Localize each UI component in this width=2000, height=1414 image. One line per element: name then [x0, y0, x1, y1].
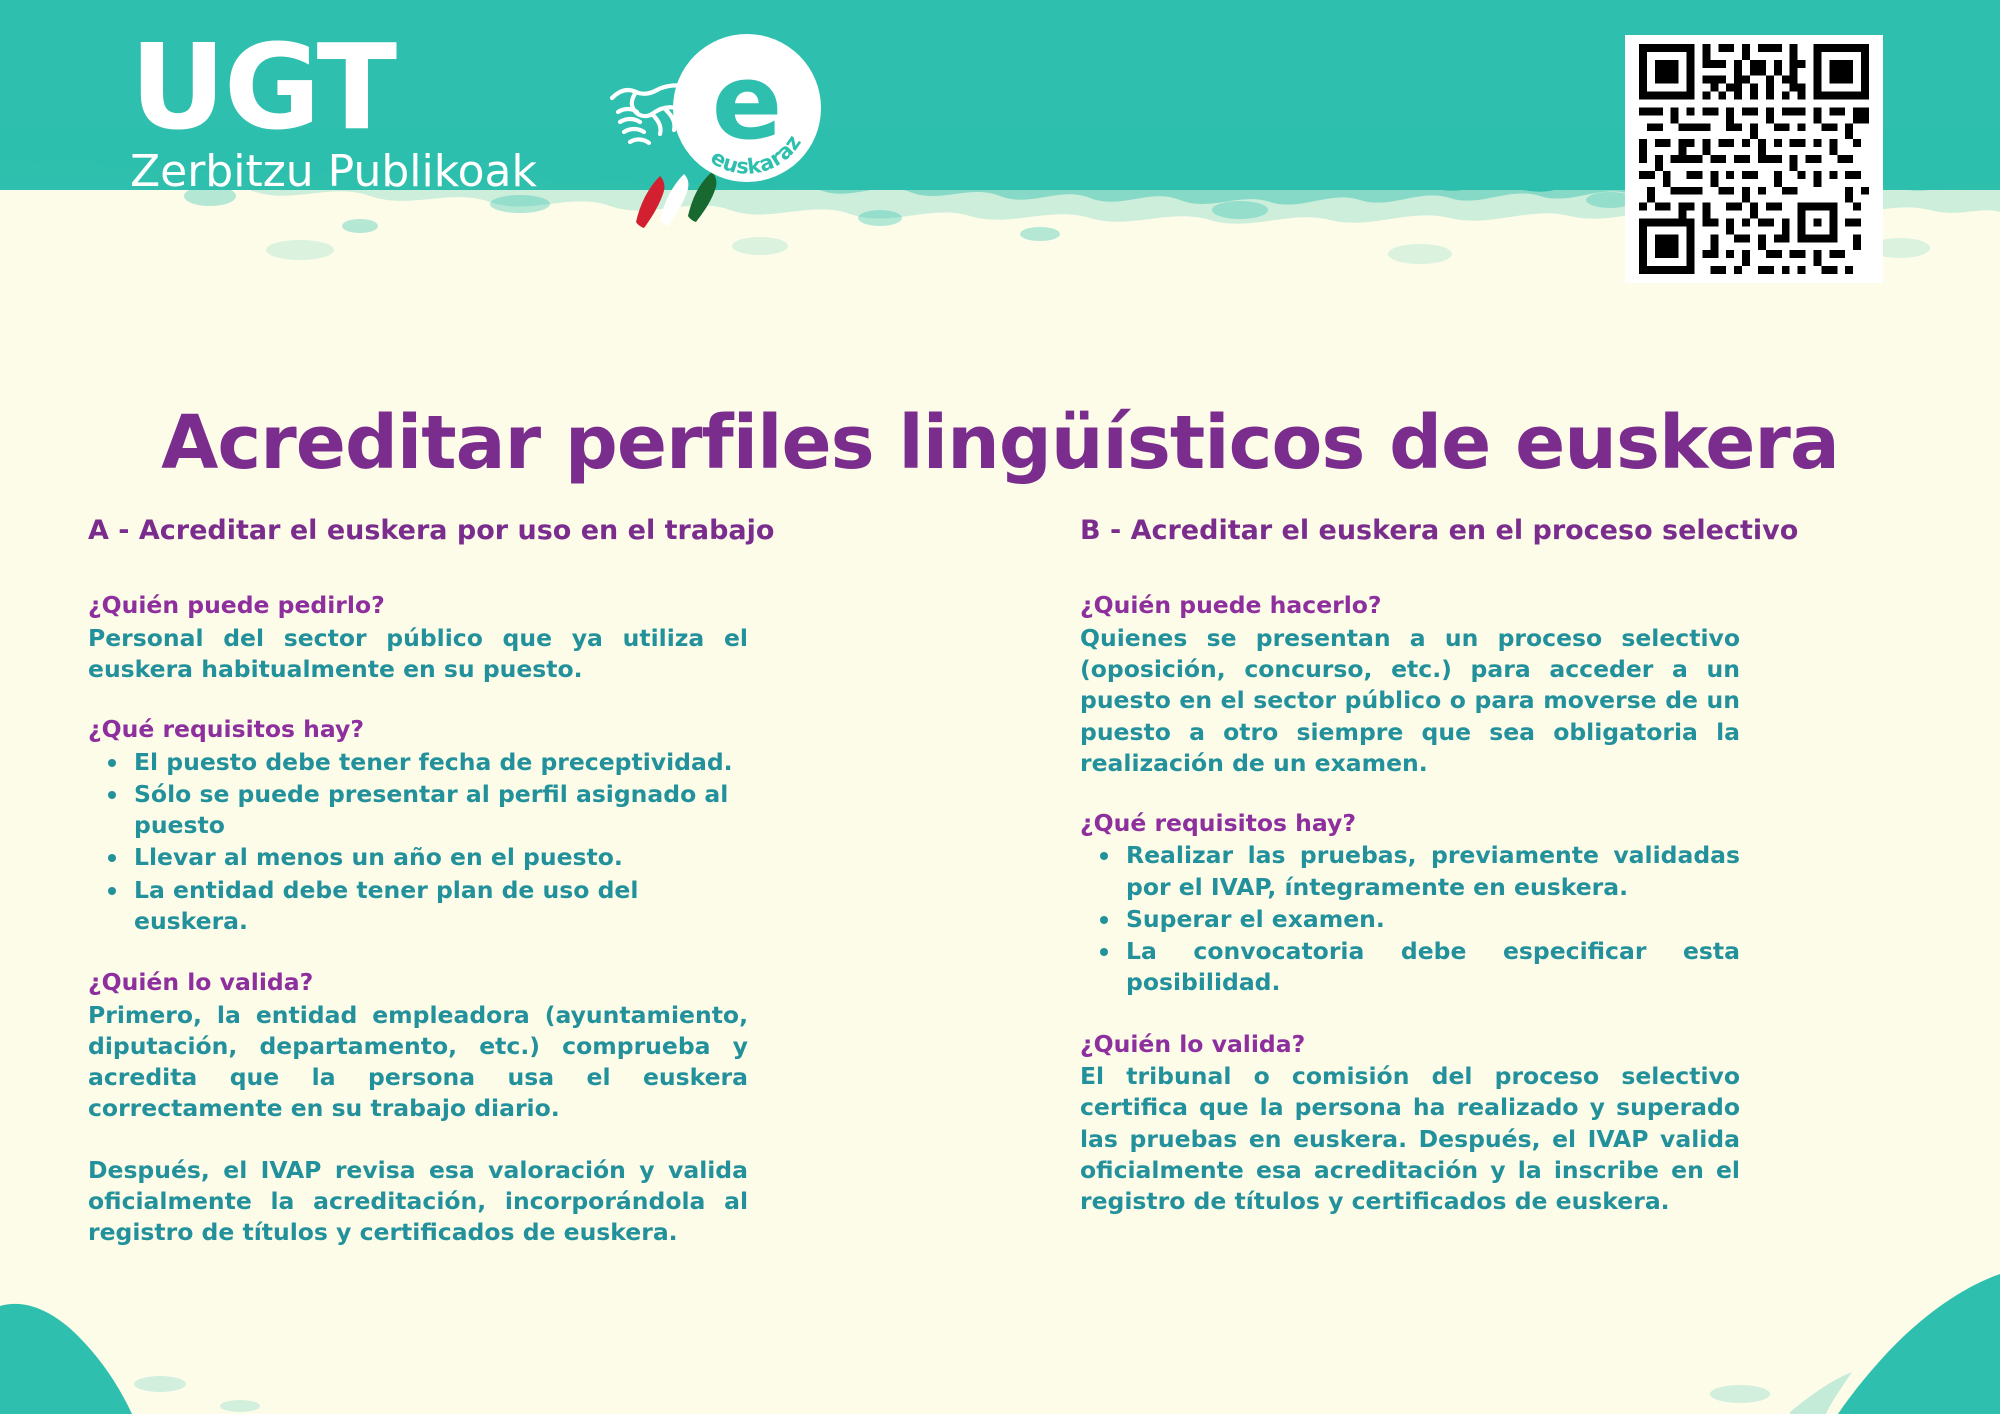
bullet-dot-icon [108, 854, 116, 862]
euskaraz-logo: e euskaraz [672, 32, 822, 184]
column-b-question-3: ¿Quién lo valida? [1080, 1030, 1740, 1059]
spacer [88, 1125, 748, 1155]
column-a-answer-1: Personal del sector público que ya utili… [88, 623, 748, 686]
qr-code[interactable] [1625, 35, 1883, 283]
column-b-answer-3: El tribunal o comisión del proceso selec… [1080, 1061, 1740, 1217]
column-a-question-2: ¿Qué requisitos hay? [88, 715, 748, 744]
spacer [1080, 1000, 1740, 1030]
bullet-dot-icon [1100, 852, 1108, 860]
column-b: B - Acreditar el euskera en el proceso s… [1080, 515, 1740, 1217]
content-columns: A - Acreditar el euskera por uso en el t… [0, 515, 2000, 1345]
list-item-label: Sólo se puede presentar al perfil asigna… [134, 780, 728, 839]
column-a-question-1: ¿Quién puede pedirlo? [88, 591, 748, 620]
column-b-requirements-list: Realizar las pruebas, previamente valida… [1080, 840, 1740, 998]
column-a-answer-3: Primero, la entidad empleadora (ayuntami… [88, 1000, 748, 1125]
list-item-label: El puesto debe tener fecha de preceptivi… [134, 748, 733, 776]
list-item: Superar el examen. [1080, 904, 1740, 935]
bullet-dot-icon [1100, 916, 1108, 924]
bullet-dot-icon [1100, 948, 1108, 956]
list-item-label: La convocatoria debe especificar esta po… [1126, 937, 1740, 996]
spacer [88, 938, 748, 968]
column-a-heading: A - Acreditar el euskera por uso en el t… [88, 515, 748, 547]
column-a-closing-paragraph: Después, el IVAP revisa esa valoración y… [88, 1155, 748, 1249]
list-item-label: La entidad debe tener plan de uso del eu… [134, 876, 638, 935]
list-item: Realizar las pruebas, previamente valida… [1080, 840, 1740, 903]
list-item-label: Llevar al menos un año en el puesto. [134, 843, 623, 871]
bullet-dot-icon [108, 887, 116, 895]
list-item: La entidad debe tener plan de uso del eu… [88, 875, 748, 938]
list-item-label: Realizar las pruebas, previamente valida… [1126, 841, 1740, 900]
column-a-question-3: ¿Quién lo valida? [88, 968, 748, 997]
column-b-answer-1: Quienes se presentan a un proceso select… [1080, 623, 1740, 779]
column-b-question-2: ¿Qué requisitos hay? [1080, 809, 1740, 838]
list-item: El puesto debe tener fecha de preceptivi… [88, 747, 748, 778]
list-item-label: Superar el examen. [1126, 905, 1385, 933]
column-b-question-1: ¿Quién puede hacerlo? [1080, 591, 1740, 620]
spacer [1080, 779, 1740, 809]
bullet-dot-icon [108, 791, 116, 799]
page-title: Acreditar perfiles lingüísticos de euske… [0, 405, 2000, 483]
column-b-heading: B - Acreditar el euskera en el proceso s… [1080, 515, 1740, 547]
column-a-requirements-list: El puesto debe tener fecha de preceptivi… [88, 747, 748, 938]
spacer [88, 685, 748, 715]
euskaraz-letter: e [712, 41, 783, 163]
column-a: A - Acreditar el euskera por uso en el t… [88, 515, 748, 1248]
list-item: Sólo se puede presentar al perfil asigna… [88, 779, 748, 842]
list-item: La convocatoria debe especificar esta po… [1080, 936, 1740, 999]
bullet-dot-icon [108, 759, 116, 767]
list-item: Llevar al menos un año en el puesto. [88, 842, 748, 873]
